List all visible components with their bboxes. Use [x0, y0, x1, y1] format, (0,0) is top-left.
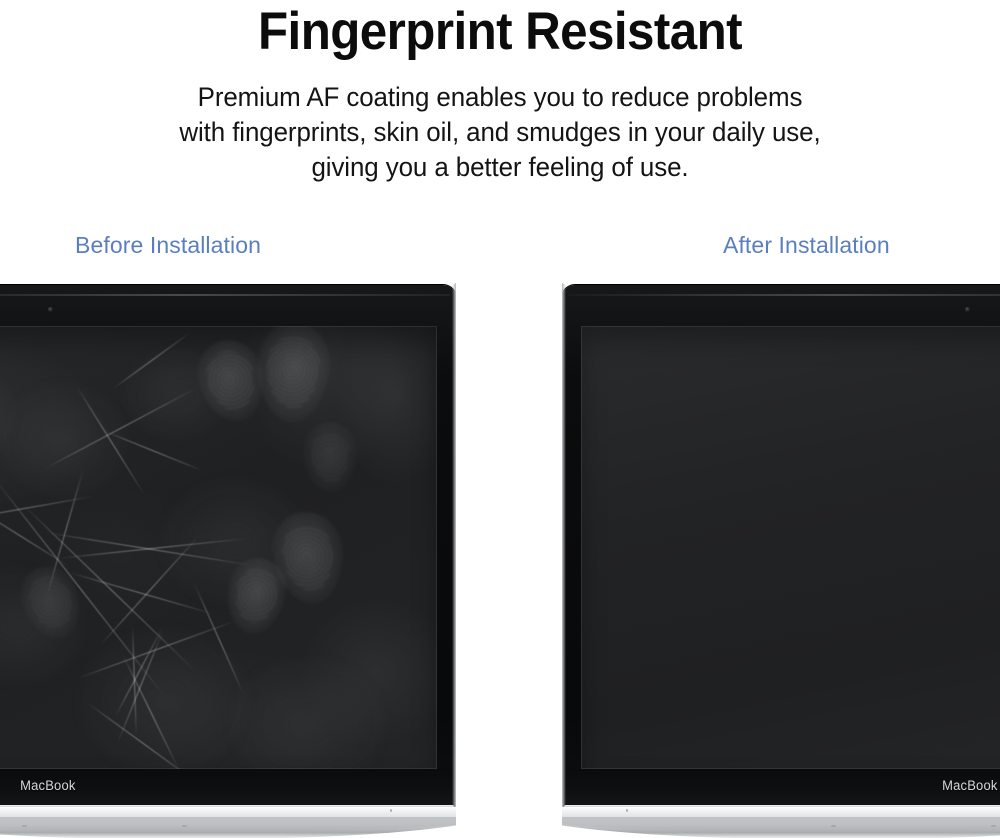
laptop-after-installation: MacBook	[562, 276, 1000, 838]
screen-before-installation	[0, 326, 437, 769]
caption-after-installation: After Installation	[723, 232, 890, 259]
header-section: Fingerprint Resistant Premium AF coating…	[0, 0, 1000, 220]
comparison-stage: MacBook MacBook	[0, 276, 1000, 838]
page-title: Fingerprint Resistant	[35, 5, 965, 58]
laptop-chin-before: MacBook	[0, 769, 455, 805]
laptop-lid-after: MacBook	[562, 285, 1000, 806]
laptop-chin-after: MacBook	[563, 769, 1000, 805]
macbook-wordmark-after: MacBook	[942, 778, 997, 793]
fingerprint-mark	[301, 421, 359, 494]
laptop-lid-before: MacBook	[0, 285, 456, 806]
screen-inner-edge-after	[581, 326, 1000, 769]
laptop-separator-gap	[456, 276, 562, 838]
comparison-captions: Before Installation After Installation	[0, 232, 1000, 276]
screen-after-installation	[581, 326, 1000, 769]
laptop-before-installation: MacBook	[0, 276, 456, 838]
camera-dot-icon	[48, 307, 53, 312]
laptop-base-before	[0, 807, 512, 838]
lid-gloss-before	[0, 294, 450, 296]
fingerprint-mark	[252, 326, 334, 425]
laptop-base-after	[506, 807, 1000, 838]
page-subtitle: Premium AF coating enables you to reduce…	[20, 80, 980, 185]
caption-before-installation: Before Installation	[75, 232, 261, 259]
macbook-wordmark-before: MacBook	[20, 778, 75, 793]
subtitle-line-3: giving you a better feeling of use.	[20, 150, 980, 185]
camera-dot-icon	[965, 307, 970, 312]
subtitle-line-1: Premium AF coating enables you to reduce…	[20, 80, 980, 115]
lid-gloss-after	[568, 294, 1000, 296]
subtitle-line-2: with fingerprints, skin oil, and smudges…	[20, 115, 980, 150]
